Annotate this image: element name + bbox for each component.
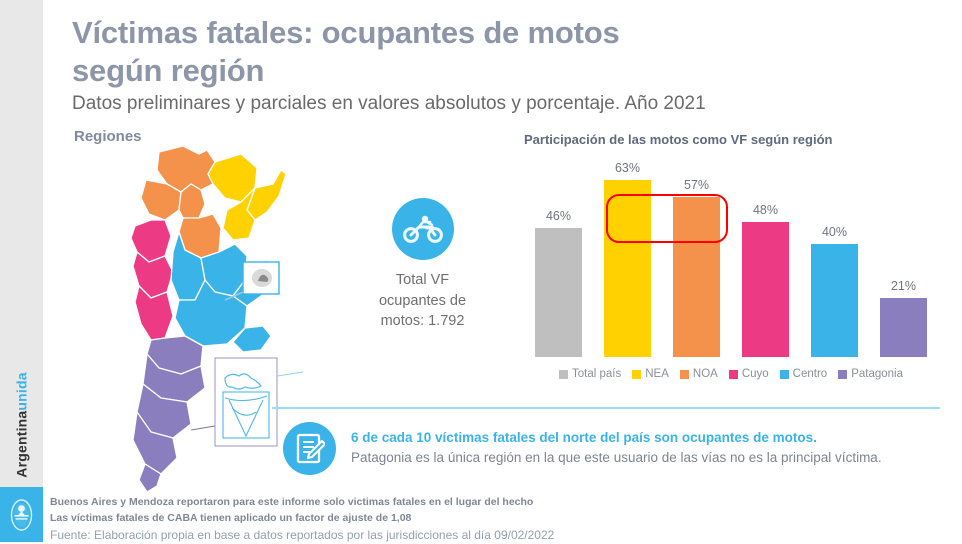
bar-chart: 46%63%57%48%40%21%: [524, 160, 938, 360]
legend-label: Patagonia: [851, 368, 903, 380]
document-pencil-icon: [283, 422, 336, 475]
kpi-line-2: ocupantes de: [345, 291, 500, 312]
chart-plot-area: 46%63%57%48%40%21%: [524, 160, 938, 357]
bar-label-total-país: 46%: [527, 209, 590, 223]
footer-note-1: Buenos Aires y Mendoza reportaron para e…: [50, 495, 750, 511]
bar-nea: [604, 180, 651, 357]
bar-label-patagonia: 21%: [872, 279, 935, 293]
chart-legend: Total paísNEANOACuyoCentroPatagonia: [524, 368, 938, 380]
footer: Buenos Aires y Mendoza reportaron para e…: [50, 495, 750, 544]
argentina-sun-emblem-icon: [0, 487, 43, 542]
bar-label-centro: 40%: [803, 225, 866, 239]
legend-label: NOA: [693, 368, 718, 380]
chart-title: Participación de las motos como VF según…: [524, 132, 832, 147]
brand-word-argentina: Argentina: [14, 411, 30, 478]
insight-callout: 6 de cada 10 víctimas fatales del norte …: [283, 420, 943, 480]
bar-patagonia: [880, 298, 927, 357]
legend-swatch-icon: [559, 370, 568, 379]
slide-canvas: Argentinaunida Víctimas fatales: ocupant…: [0, 0, 962, 542]
bar-label-cuyo: 48%: [734, 203, 797, 217]
bar-cuyo: [742, 222, 789, 357]
legend-item-centro[interactable]: Centro: [780, 368, 828, 380]
bar-total-país: [535, 228, 582, 357]
legend-label: NEA: [645, 368, 669, 380]
legend-swatch-icon: [632, 370, 641, 379]
bar-noa: [673, 197, 720, 357]
legend-label: Centro: [793, 368, 828, 380]
bar-centro: [811, 244, 858, 357]
brand-argentina-unida: Argentinaunida: [0, 370, 43, 480]
callout-subtext: Patagonia es la única región en la que e…: [351, 448, 936, 468]
legend-item-total-país[interactable]: Total país: [559, 368, 621, 380]
page-title-line-1: Víctimas fatales: ocupantes de motos: [72, 14, 832, 52]
legend-item-noa[interactable]: NOA: [680, 368, 718, 380]
kpi-total-vf: Total VF ocupantes de motos: 1.792: [345, 198, 500, 332]
legend-label: Cuyo: [742, 368, 769, 380]
page-subtitle: Datos preliminares y parciales en valore…: [72, 92, 892, 116]
legend-swatch-icon: [729, 370, 738, 379]
legend-item-nea[interactable]: NEA: [632, 368, 669, 380]
legend-item-patagonia[interactable]: Patagonia: [838, 368, 903, 380]
kpi-line-1: Total VF: [345, 270, 500, 291]
legend-label: Total país: [572, 368, 621, 380]
footer-source: Fuente: Elaboración propia en base a dat…: [50, 526, 750, 544]
legend-swatch-icon: [780, 370, 789, 379]
footer-note-2: Las víctimas fatales de CABA tienen apli…: [50, 511, 750, 527]
callout-headline: 6 de cada 10 víctimas fatales del norte …: [351, 428, 936, 448]
legend-swatch-icon: [838, 370, 847, 379]
bar-label-nea: 63%: [596, 161, 659, 175]
section-divider: [272, 407, 940, 409]
argentina-regions-map: [95, 140, 310, 495]
page-title: Víctimas fatales: ocupantes de motos seg…: [72, 14, 832, 90]
kpi-line-3: motos: 1.792: [345, 311, 500, 332]
legend-swatch-icon: [680, 370, 689, 379]
bar-label-noa: 57%: [665, 178, 728, 192]
legend-item-cuyo[interactable]: Cuyo: [729, 368, 769, 380]
brand-word-unida: unida: [14, 372, 30, 410]
page-title-line-2: según región: [72, 52, 832, 90]
motorcycle-icon: [392, 198, 454, 260]
